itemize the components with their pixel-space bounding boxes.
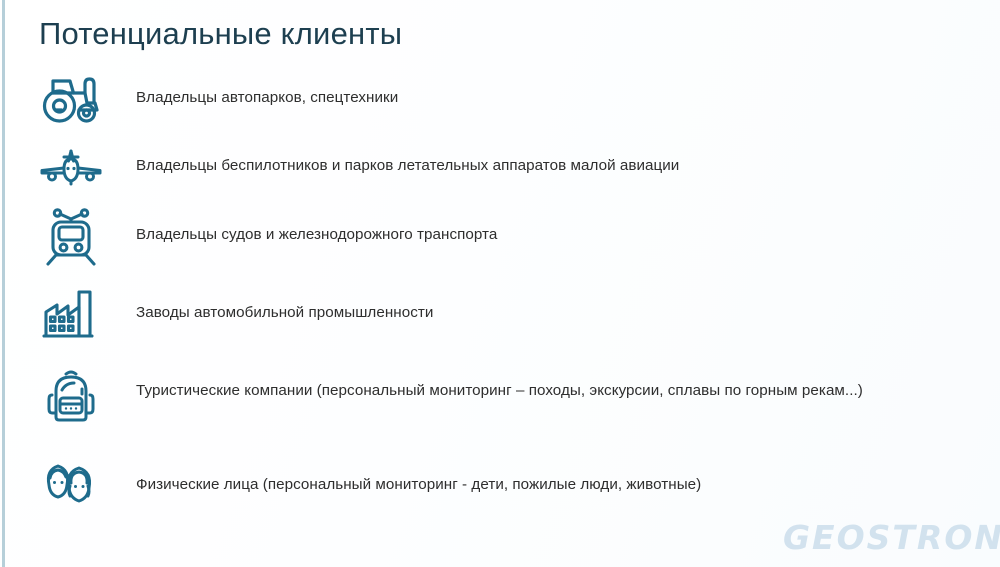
tractor-icon [38,70,104,130]
people-icon [38,457,104,503]
list-item-label: Заводы автомобильной промышленности [136,301,936,325]
slide-root: Потенциальные клиенты Влад [0,0,1000,567]
list-item-label: Владельцы судов и железнодорожного транс… [136,223,936,247]
list-item-label: Владельцы автопарков, спецтехники [136,86,936,110]
factory-icon [38,286,104,342]
list-item-label: Физические лица (персональный мониторинг… [136,473,936,497]
list-item-label: Владельцы беспилотников и парков летател… [136,154,936,178]
list-item-label: Туристические компании (персональный мон… [136,379,906,403]
left-accent-stripe [2,0,5,567]
airplane-icon [38,148,104,188]
geostron-watermark: GEOSTRON [783,518,1000,557]
backpack-icon [38,365,104,425]
train-icon [38,206,104,268]
page-title: Потенциальные клиенты [39,14,402,54]
